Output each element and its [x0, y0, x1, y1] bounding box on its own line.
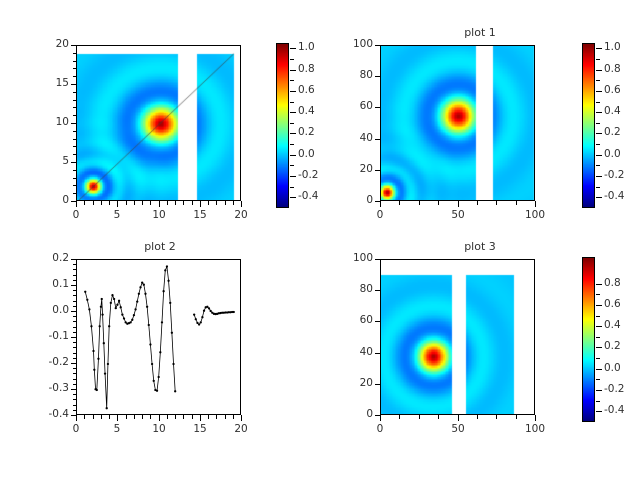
y-minor-tick-mark [73, 68, 76, 69]
y-tick-mark [375, 76, 380, 77]
colorbar-tick-label: -0.2 [604, 383, 625, 395]
colorbar-tick-label: 0.8 [298, 63, 315, 75]
y-tick-label: 5 [26, 155, 69, 167]
y-tick-mark [71, 45, 76, 46]
colorbar-minor-tick-mark [290, 165, 294, 166]
plot-frame-bottom-right [380, 259, 535, 415]
colorbar-tick-mark [596, 347, 602, 348]
subplot-bottom-right: plot 3 020406080100050100 0.80.60.40.20.… [320, 240, 640, 480]
x-minor-tick-mark [233, 415, 234, 419]
y-tick-mark [375, 321, 380, 322]
x-minor-tick-mark [76, 415, 77, 419]
x-minor-tick-mark [516, 201, 517, 205]
colorbar-minor-tick-mark [596, 379, 600, 380]
x-minor-tick-mark [101, 201, 102, 205]
colorbar-tick-label: -0.4 [298, 190, 319, 202]
y-tick-mark [375, 107, 380, 108]
y-tick-mark [375, 170, 380, 171]
y-minor-tick-mark [73, 399, 76, 400]
x-minor-tick-mark [535, 415, 536, 419]
line-series-canvas [77, 260, 241, 415]
x-tick-label: 0 [54, 423, 98, 435]
colorbar-tick-mark [596, 48, 602, 49]
y-tick-label: 80 [330, 69, 373, 81]
colorbar-tick-mark [596, 176, 602, 177]
x-minor-tick-mark [167, 201, 168, 205]
y-tick-label: 100 [330, 252, 373, 264]
colorbar-tick-mark [596, 70, 602, 71]
y-tick-mark [375, 139, 380, 140]
plot-frame-top-left [76, 45, 241, 201]
y-minor-tick-mark [73, 100, 76, 101]
y-tick-label: 20 [26, 38, 69, 50]
y-tick-mark [71, 363, 76, 364]
x-minor-tick-mark [183, 201, 184, 205]
colorbar-minor-tick-mark [290, 123, 294, 124]
y-tick-label: -0.1 [26, 330, 69, 342]
x-minor-tick-mark [438, 201, 439, 205]
y-minor-tick-mark [73, 327, 76, 328]
y-minor-tick-mark [73, 193, 76, 194]
y-minor-tick-mark [73, 107, 76, 108]
colorbar-tick-label: -0.2 [604, 169, 625, 181]
y-minor-tick-mark [73, 92, 76, 93]
y-minor-tick-mark [73, 410, 76, 411]
y-tick-label: 20 [330, 377, 373, 389]
x-minor-tick-mark [200, 201, 201, 205]
x-minor-tick-mark [496, 415, 497, 419]
y-minor-tick-mark [73, 53, 76, 54]
colorbar-top-right [582, 43, 595, 208]
subplot-top-right: plot 1 020406080100050100 1.00.80.60.40.… [320, 0, 640, 240]
colorbar-tick-mark [596, 155, 602, 156]
y-tick-mark [71, 84, 76, 85]
colorbar-tick-mark [596, 411, 602, 412]
y-minor-tick-mark [73, 146, 76, 147]
colorbar-minor-tick-mark [596, 80, 600, 81]
y-minor-tick-mark [73, 405, 76, 406]
colorbar-minor-tick-mark [596, 59, 600, 60]
x-tick-label: 5 [95, 209, 139, 221]
x-minor-tick-mark [167, 415, 168, 419]
y-tick-label: 60 [330, 314, 373, 326]
y-tick-mark [375, 290, 380, 291]
y-tick-label: 0.2 [26, 252, 69, 264]
x-minor-tick-mark [84, 415, 85, 419]
x-minor-tick-mark [93, 415, 94, 419]
colorbar-bottom-right [582, 257, 595, 422]
y-tick-mark [375, 259, 380, 260]
y-tick-label: -0.4 [26, 408, 69, 420]
colorbar-tick-label: 0.6 [604, 298, 621, 310]
x-minor-tick-mark [458, 201, 459, 205]
colorbar-minor-tick-mark [290, 187, 294, 188]
colorbar-minor-tick-mark [596, 401, 600, 402]
x-minor-tick-mark [84, 201, 85, 205]
y-tick-mark [71, 389, 76, 390]
x-minor-tick-mark [117, 415, 118, 419]
y-minor-tick-mark [73, 170, 76, 171]
x-minor-tick-mark [109, 415, 110, 419]
colorbar-tick-label: 0.8 [604, 63, 621, 75]
y-minor-tick-mark [73, 373, 76, 374]
y-tick-mark [71, 337, 76, 338]
x-minor-tick-mark [126, 201, 127, 205]
colorbar-gradient [583, 44, 594, 207]
y-tick-label: 0.1 [26, 278, 69, 290]
colorbar-minor-tick-mark [596, 294, 600, 295]
y-tick-label: 0 [26, 194, 69, 206]
diagonal-overlay-line [77, 46, 241, 201]
y-minor-tick-mark [73, 394, 76, 395]
colorbar-minor-tick-mark [596, 316, 600, 317]
x-minor-tick-mark [225, 415, 226, 419]
x-minor-tick-mark [233, 201, 234, 205]
plot-frame-bottom-left [76, 259, 241, 415]
y-tick-mark [375, 353, 380, 354]
y-minor-tick-mark [73, 301, 76, 302]
x-minor-tick-mark [142, 201, 143, 205]
x-minor-tick-mark [175, 415, 176, 419]
heatmap-image-bottom-right [381, 260, 535, 415]
x-minor-tick-mark [183, 415, 184, 419]
x-minor-tick-mark [380, 415, 381, 419]
colorbar-tick-mark [596, 326, 602, 327]
y-tick-mark [71, 123, 76, 124]
colorbar-tick-label: 0.0 [604, 362, 621, 374]
colorbar-minor-tick-mark [596, 144, 600, 145]
y-minor-tick-mark [73, 131, 76, 132]
x-minor-tick-mark [477, 415, 478, 419]
y-minor-tick-mark [73, 76, 76, 77]
x-minor-tick-mark [477, 201, 478, 205]
y-minor-tick-mark [73, 306, 76, 307]
colorbar-minor-tick-mark [596, 337, 600, 338]
colorbar-minor-tick-mark [596, 102, 600, 103]
y-tick-label: 0.0 [26, 304, 69, 316]
colorbar-tick-mark [290, 91, 296, 92]
y-tick-mark [71, 162, 76, 163]
colorbar-minor-tick-mark [596, 165, 600, 166]
x-minor-tick-mark [109, 201, 110, 205]
colorbar-tick-mark [596, 305, 602, 306]
y-tick-label: -0.2 [26, 356, 69, 368]
colorbar-tick-mark [596, 390, 602, 391]
subplot-bottom-left: plot 2 0.20.10.0-0.1-0.2-0.3-0.405101520 [0, 240, 320, 480]
x-minor-tick-mark [117, 201, 118, 205]
x-tick-label: 20 [219, 209, 263, 221]
y-tick-label: 10 [26, 116, 69, 128]
x-tick-label: 50 [436, 209, 480, 221]
y-minor-tick-mark [73, 358, 76, 359]
y-tick-label: -0.3 [26, 382, 69, 394]
colorbar-tick-mark [290, 70, 296, 71]
x-tick-label: 0 [54, 209, 98, 221]
x-minor-tick-mark [134, 201, 135, 205]
colorbar-tick-mark [290, 48, 296, 49]
x-tick-label: 50 [436, 423, 480, 435]
x-minor-tick-mark [516, 415, 517, 419]
y-minor-tick-mark [73, 115, 76, 116]
y-tick-label: 100 [330, 38, 373, 50]
colorbar-tick-label: 0.2 [604, 340, 621, 352]
y-tick-label: 80 [330, 283, 373, 295]
x-minor-tick-mark [150, 201, 151, 205]
y-minor-tick-mark [73, 347, 76, 348]
x-tick-label: 20 [219, 423, 263, 435]
y-minor-tick-mark [73, 332, 76, 333]
colorbar-tick-label: 0.4 [604, 105, 621, 117]
x-minor-tick-mark [192, 415, 193, 419]
x-minor-tick-mark [241, 201, 242, 205]
colorbar-tick-label: 0.2 [604, 126, 621, 138]
x-minor-tick-mark [200, 415, 201, 419]
y-minor-tick-mark [73, 139, 76, 140]
colorbar-tick-mark [596, 112, 602, 113]
x-minor-tick-mark [419, 201, 420, 205]
colorbar-minor-tick-mark [290, 144, 294, 145]
x-minor-tick-mark [134, 415, 135, 419]
x-tick-label: 15 [178, 423, 222, 435]
y-minor-tick-mark [73, 342, 76, 343]
y-minor-tick-mark [73, 178, 76, 179]
colorbar-tick-label: 0.6 [298, 84, 315, 96]
x-minor-tick-mark [380, 201, 381, 205]
x-minor-tick-mark [142, 415, 143, 419]
colorbar-minor-tick-mark [290, 102, 294, 103]
colorbar-tick-label: -0.4 [604, 404, 625, 416]
heatmap-image-top-right [381, 46, 535, 201]
y-minor-tick-mark [73, 353, 76, 354]
y-tick-label: 40 [330, 346, 373, 358]
colorbar-tick-mark [596, 284, 602, 285]
colorbar-minor-tick-mark [596, 187, 600, 188]
colorbar-tick-label: 0.4 [604, 319, 621, 331]
colorbar-tick-mark [290, 176, 296, 177]
colorbar-minor-tick-mark [290, 80, 294, 81]
x-minor-tick-mark [216, 201, 217, 205]
y-minor-tick-mark [73, 154, 76, 155]
y-tick-label: 0 [330, 194, 373, 206]
x-tick-label: 100 [513, 209, 557, 221]
subplot-top-left: 0510152005101520 1.00.80.60.40.20.0-0.2-… [0, 0, 320, 240]
colorbar-tick-mark [290, 133, 296, 134]
x-tick-label: 5 [95, 423, 139, 435]
plot-frame-top-right [380, 45, 535, 201]
colorbar-minor-tick-mark [596, 358, 600, 359]
y-tick-label: 15 [26, 77, 69, 89]
figure-canvas: 0510152005101520 1.00.80.60.40.20.0-0.2-… [0, 0, 640, 480]
colorbar-gradient [277, 44, 288, 207]
colorbar-minor-tick-mark [596, 123, 600, 124]
y-tick-label: 0 [330, 408, 373, 420]
y-minor-tick-mark [73, 269, 76, 270]
colorbar-tick-label: 1.0 [298, 41, 315, 53]
y-minor-tick-mark [73, 280, 76, 281]
x-minor-tick-mark [175, 201, 176, 205]
y-minor-tick-mark [73, 321, 76, 322]
y-minor-tick-mark [73, 61, 76, 62]
x-minor-tick-mark [159, 201, 160, 205]
colorbar-tick-mark [596, 369, 602, 370]
colorbar-tick-label: 0.6 [604, 84, 621, 96]
x-tick-label: 100 [513, 423, 557, 435]
x-minor-tick-mark [93, 201, 94, 205]
y-minor-tick-mark [73, 290, 76, 291]
colorbar-tick-label: 0.0 [298, 148, 315, 160]
colorbar-tick-label: 0.4 [298, 105, 315, 117]
colorbar-tick-mark [290, 112, 296, 113]
x-minor-tick-mark [419, 415, 420, 419]
x-minor-tick-mark [399, 201, 400, 205]
colorbar-tick-label: -0.2 [298, 169, 319, 181]
y-tick-mark [71, 259, 76, 260]
colorbar-tick-mark [290, 197, 296, 198]
x-minor-tick-mark [535, 201, 536, 205]
colorbar-gradient [583, 258, 594, 421]
colorbar-tick-mark [596, 197, 602, 198]
x-minor-tick-mark [192, 201, 193, 205]
y-minor-tick-mark [73, 384, 76, 385]
x-tick-label: 0 [358, 423, 402, 435]
x-minor-tick-mark [101, 415, 102, 419]
x-minor-tick-mark [225, 201, 226, 205]
y-tick-mark [375, 45, 380, 46]
y-tick-label: 20 [330, 163, 373, 175]
y-tick-label: 40 [330, 132, 373, 144]
x-minor-tick-mark [216, 415, 217, 419]
x-tick-label: 10 [137, 209, 181, 221]
x-minor-tick-mark [438, 415, 439, 419]
colorbar-tick-label: 0.0 [604, 148, 621, 160]
x-minor-tick-mark [150, 415, 151, 419]
y-tick-mark [71, 285, 76, 286]
colorbar-tick-mark [596, 91, 602, 92]
x-minor-tick-mark [208, 415, 209, 419]
y-minor-tick-mark [73, 368, 76, 369]
x-minor-tick-mark [126, 415, 127, 419]
y-minor-tick-mark [73, 264, 76, 265]
y-tick-mark [71, 311, 76, 312]
colorbar-tick-label: 0.2 [298, 126, 315, 138]
colorbar-tick-label: 0.8 [604, 277, 621, 289]
y-minor-tick-mark [73, 316, 76, 317]
y-tick-label: 60 [330, 100, 373, 112]
x-minor-tick-mark [496, 201, 497, 205]
x-minor-tick-mark [399, 415, 400, 419]
colorbar-tick-mark [290, 155, 296, 156]
x-minor-tick-mark [159, 415, 160, 419]
x-tick-label: 0 [358, 209, 402, 221]
x-minor-tick-mark [241, 415, 242, 419]
colorbar-tick-mark [596, 133, 602, 134]
y-minor-tick-mark [73, 295, 76, 296]
x-tick-label: 15 [178, 209, 222, 221]
y-tick-mark [375, 384, 380, 385]
y-minor-tick-mark [73, 185, 76, 186]
y-minor-tick-mark [73, 275, 76, 276]
y-minor-tick-mark [73, 379, 76, 380]
x-tick-label: 10 [137, 423, 181, 435]
x-minor-tick-mark [76, 201, 77, 205]
colorbar-minor-tick-mark [290, 59, 294, 60]
colorbar-tick-label: 1.0 [604, 41, 621, 53]
x-minor-tick-mark [208, 201, 209, 205]
colorbar-top-left [276, 43, 289, 208]
colorbar-tick-label: -0.4 [604, 190, 625, 202]
x-minor-tick-mark [458, 415, 459, 419]
